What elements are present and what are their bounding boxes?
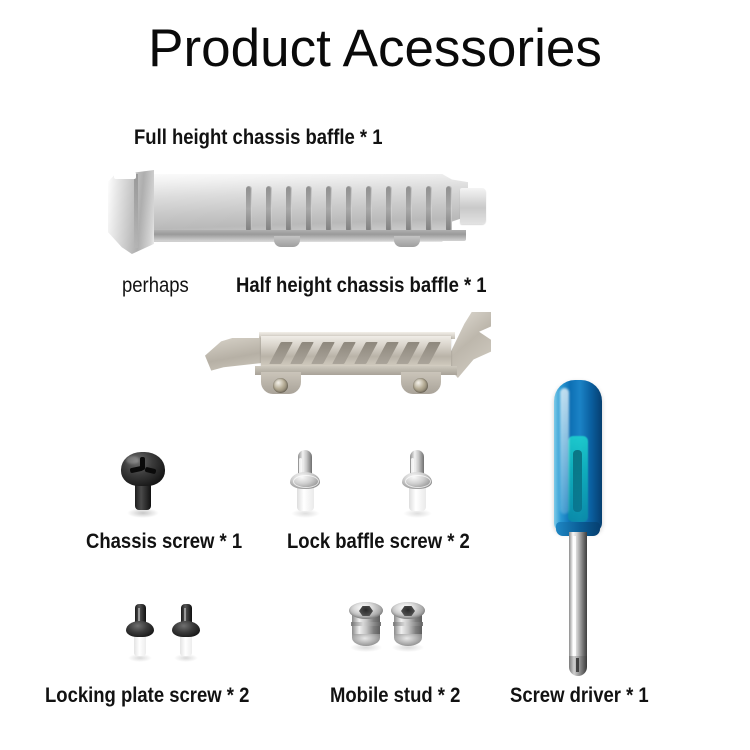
caption-mobile-stud: Mobile stud * 2	[330, 684, 460, 708]
baffle-vent-slots	[246, 186, 452, 232]
baffle-left-flange	[108, 170, 154, 254]
caption-lock-baffle-screw: Lock baffle screw * 2	[287, 530, 470, 554]
lock-baffle-screw-base	[297, 486, 314, 511]
mobile-stud-icon	[390, 602, 426, 652]
half-baffle-vent-slots	[275, 342, 435, 364]
locking-plate-screw-flange	[126, 621, 154, 637]
chassis-screw-icon	[121, 452, 165, 522]
caption-screw-driver: Screw driver * 1	[510, 684, 649, 708]
locking-plate-screw-flange	[172, 621, 200, 637]
half-baffle-screw-hole	[413, 378, 428, 393]
page-title: Product Acessories	[0, 18, 750, 79]
baffle-flange-notch	[114, 172, 136, 179]
mobile-stud-icon	[348, 602, 384, 652]
locking-plate-screw-base	[180, 634, 192, 656]
locking-plate-screw-icon	[126, 604, 154, 662]
caption-locking-plate-screw: Locking plate screw * 2	[45, 684, 249, 708]
half-baffle-screw-hole	[273, 378, 288, 393]
lock-baffle-screw-base	[409, 486, 426, 511]
caption-perhaps: perhaps	[122, 274, 189, 298]
baffle-right-cap	[460, 188, 486, 224]
screw-driver-icon	[548, 380, 610, 680]
caption-full-height-chassis-baffle: Full height chassis baffle * 1	[134, 126, 383, 150]
full-height-chassis-baffle-icon	[108, 168, 486, 256]
half-height-chassis-baffle-icon	[205, 310, 495, 398]
lock-baffle-screw-icon	[400, 450, 434, 524]
baffle-tab	[274, 236, 300, 247]
locking-plate-screw-base	[134, 634, 146, 656]
baffle-tab	[394, 236, 420, 247]
caption-half-height-chassis-baffle: Half height chassis baffle * 1	[236, 274, 487, 298]
caption-chassis-screw: Chassis screw * 1	[86, 530, 242, 554]
lock-baffle-screw-icon	[288, 450, 322, 524]
product-accessories-page: Product Acessories Full height chassis b…	[0, 0, 750, 750]
baffle-flange-edge	[134, 174, 138, 248]
screwdriver-shaft	[569, 532, 587, 662]
locking-plate-screw-icon	[172, 604, 200, 662]
